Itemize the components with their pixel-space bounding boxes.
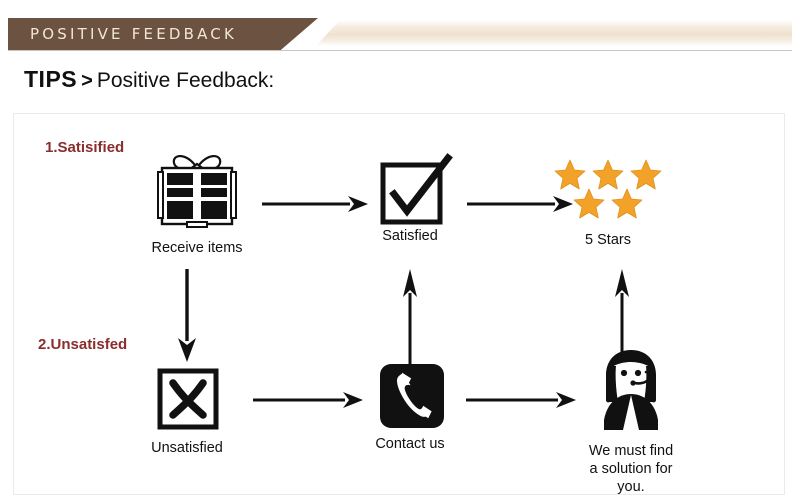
checkbox-x-icon <box>156 367 218 429</box>
step-label-satisfied: 1.Satisified <box>45 139 124 156</box>
star-icon <box>611 188 643 219</box>
connector-receive-to-unsatisfied <box>177 269 197 362</box>
node-satisfied: Satisfied <box>350 156 470 245</box>
star-icon <box>592 159 624 190</box>
connector-contact-to-solution <box>466 392 576 408</box>
star-icon <box>573 188 605 219</box>
node-receive-items: Receive items <box>137 150 257 257</box>
page-title-separator: > <box>77 70 97 92</box>
step-label-unsatisfied: 2.Unsatisfed <box>38 336 127 353</box>
banner-underline <box>8 50 792 51</box>
node-solution: We must find a solution for you. <box>561 348 701 496</box>
node-satisfied-label: Satisfied <box>350 227 470 245</box>
checkbox-checked-icon <box>379 156 441 218</box>
node-solution-label-line2: a solution for <box>561 460 701 478</box>
star-icon <box>630 159 662 190</box>
support-agent-icon <box>591 348 671 432</box>
node-unsatisfied: Unsatisfied <box>127 367 247 457</box>
telephone-icon <box>380 364 440 424</box>
page-title: TIPS>Positive Feedback: <box>24 66 274 93</box>
connector-unsatisfied-to-contact <box>253 392 363 408</box>
banner-cream-shape <box>316 20 792 46</box>
node-solution-label-line1: We must find <box>561 442 701 460</box>
star-rating-icon <box>550 159 666 219</box>
gift-box-icon <box>154 150 240 232</box>
flow-diagram-container: 1.Satisified 2.Unsatisfed <box>13 113 785 495</box>
page-title-tips: TIPS <box>24 66 77 92</box>
page-title-rest: Positive Feedback: <box>97 69 274 92</box>
node-five-stars-label: 5 Stars <box>543 231 673 249</box>
connector-contact-to-satisfied <box>400 269 420 369</box>
star-row-top <box>550 159 666 190</box>
node-solution-label: We must find a solution for you. <box>561 442 701 496</box>
node-contact-us: Contact us <box>350 364 470 453</box>
banner-brown-shape: POSITIVE FEEDBACK <box>8 18 318 50</box>
page-banner: POSITIVE FEEDBACK <box>0 18 800 50</box>
star-row-bottom <box>550 188 666 219</box>
node-receive-items-label: Receive items <box>137 239 257 257</box>
node-five-stars: 5 Stars <box>543 159 673 249</box>
node-unsatisfied-label: Unsatisfied <box>127 439 247 457</box>
node-solution-label-line3: you. <box>561 478 701 496</box>
node-contact-us-label: Contact us <box>350 435 470 453</box>
banner-title: POSITIVE FEEDBACK <box>8 25 237 43</box>
star-icon <box>554 159 586 190</box>
